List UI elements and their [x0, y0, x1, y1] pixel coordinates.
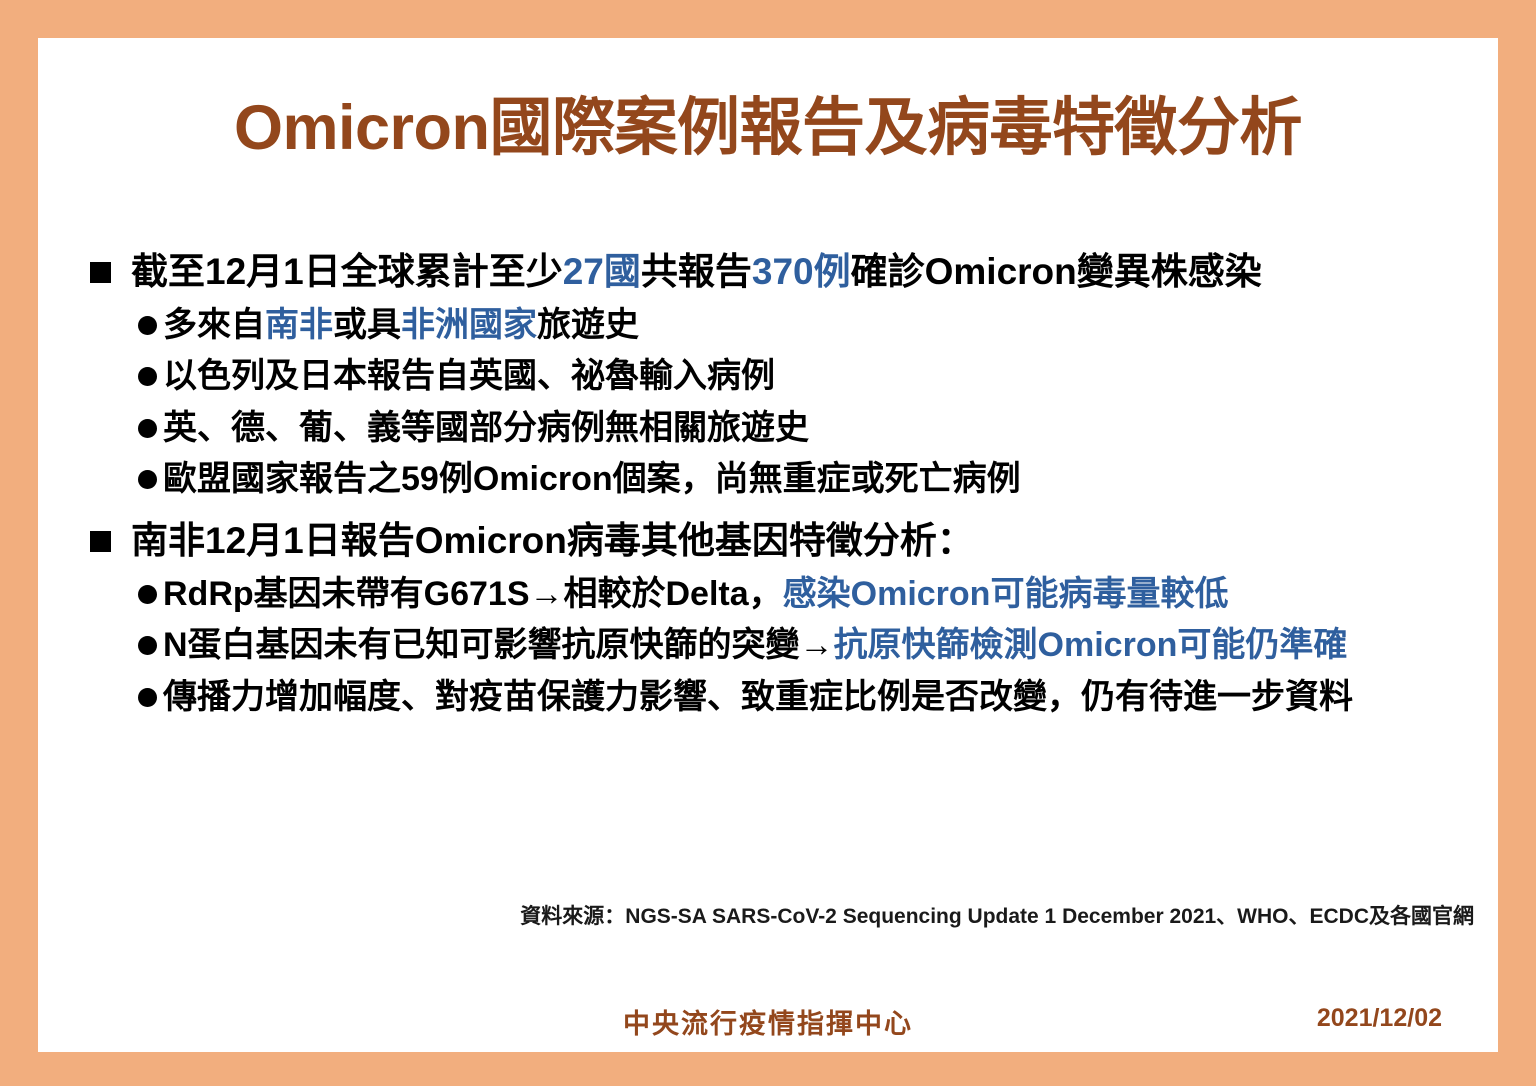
- highlight-african-countries: 非洲國家: [401, 306, 537, 344]
- bullet-text: 截至12月1日全球累計至少27國共報告370例確診Omicron變異株感染: [131, 248, 1262, 297]
- round-bullet-icon: [138, 585, 157, 604]
- bullet-text: 傳播力增加幅度、對疫苗保護力影響、致重症比例是否改變，仍有待進一步資料: [163, 675, 1353, 721]
- bullet-text: N蛋白基因未有已知可影響抗原快篩的突變→抗原快篩檢測Omicron可能仍準確: [163, 623, 1347, 669]
- bullet-level2-europe-no-travel: 英、德、葡、義等國部分病例無相關旅遊史: [38, 406, 1498, 452]
- highlight-lower-viral-load: 感染Omicron可能病毒量較低: [783, 575, 1229, 613]
- bullet-list: 截至12月1日全球累計至少27國共報告370例確診Omicron變異株感染 多來…: [38, 248, 1498, 726]
- bullet-level1-global-count: 截至12月1日全球累計至少27國共報告370例確診Omicron變異株感染: [38, 248, 1498, 297]
- slide-content-card: Omicron國際案例報告及病毒特徵分析 截至12月1日全球累計至少27國共報告…: [38, 38, 1498, 1052]
- round-bullet-icon: [138, 636, 157, 655]
- bullet-text: 以色列及日本報告自英國、祕魯輸入病例: [163, 354, 775, 400]
- text-segment: RdRp基因未帶有G671S→相較於Delta，: [163, 575, 783, 613]
- square-bullet-icon: [90, 531, 111, 552]
- highlight-27-countries: 27國: [563, 251, 641, 292]
- highlight-antigen-test-accurate: 抗原快篩檢測Omicron可能仍準確: [834, 626, 1348, 664]
- footer-date: 2021/12/02: [1317, 1004, 1442, 1033]
- source-citation: 資料來源：NGS-SA SARS-CoV-2 Sequencing Update…: [38, 900, 1498, 930]
- footer-organization: 中央流行疫情指揮中心: [38, 1002, 1498, 1041]
- square-bullet-icon: [90, 262, 111, 283]
- text-segment: 截至12月1日全球累計至少: [131, 251, 563, 292]
- text-segment: 共報告: [641, 251, 752, 292]
- bullet-level2-rdrp-gene: RdRp基因未帶有G671S→相較於Delta，感染Omicron可能病毒量較低: [38, 572, 1498, 618]
- text-segment: 或具: [333, 306, 401, 344]
- bullet-text: 南非12月1日報告Omicron病毒其他基因特徵分析：: [131, 517, 974, 566]
- bullet-level2-eu-59-cases: 歐盟國家報告之59例Omicron個案，尚無重症或死亡病例: [38, 457, 1498, 503]
- highlight-south-africa: 南非: [265, 306, 333, 344]
- page-title: Omicron國際案例報告及病毒特徵分析: [38, 94, 1498, 163]
- bullet-text: 英、德、葡、義等國部分病例無相關旅遊史: [163, 406, 809, 452]
- round-bullet-icon: [138, 316, 157, 335]
- round-bullet-icon: [138, 367, 157, 386]
- text-segment: 旅遊史: [537, 306, 639, 344]
- bullet-text: RdRp基因未帶有G671S→相較於Delta，感染Omicron可能病毒量較低: [163, 572, 1228, 618]
- bullet-level1-genetic-analysis: 南非12月1日報告Omicron病毒其他基因特徵分析：: [38, 517, 1498, 566]
- highlight-370-cases: 370例: [752, 251, 851, 292]
- bullet-level2-n-protein: N蛋白基因未有已知可影響抗原快篩的突變→抗原快篩檢測Omicron可能仍準確: [38, 623, 1498, 669]
- bullet-level2-travel-history: 多來自南非或具非洲國家旅遊史: [38, 303, 1498, 349]
- text-segment: 多來自: [163, 306, 265, 344]
- bullet-text: 歐盟國家報告之59例Omicron個案，尚無重症或死亡病例: [163, 457, 1021, 503]
- text-segment: N蛋白基因未有已知可影響抗原快篩的突變→: [163, 626, 834, 664]
- round-bullet-icon: [138, 470, 157, 489]
- round-bullet-icon: [138, 419, 157, 438]
- bullet-level2-pending-data: 傳播力增加幅度、對疫苗保護力影響、致重症比例是否改變，仍有待進一步資料: [38, 675, 1498, 721]
- bullet-text: 多來自南非或具非洲國家旅遊史: [163, 303, 639, 349]
- round-bullet-icon: [138, 688, 157, 707]
- bullet-level2-israel-japan: 以色列及日本報告自英國、祕魯輸入病例: [38, 354, 1498, 400]
- text-segment: 確診Omicron變異株感染: [851, 251, 1262, 292]
- slide-root: Omicron國際案例報告及病毒特徵分析 截至12月1日全球累計至少27國共報告…: [0, 0, 1536, 1086]
